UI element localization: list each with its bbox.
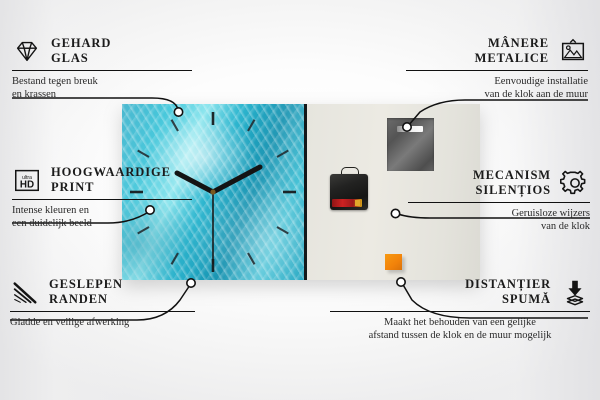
- feature-title-line2: METALICE: [475, 51, 549, 66]
- ultra-hd-icon: ultra HD: [12, 165, 42, 195]
- feature-subtitle-line1: Eenvoudige installatie: [406, 75, 588, 88]
- feature-manere-metalice: MÂNERE METALICE Eenvoudige installatie v…: [406, 36, 588, 101]
- feature-subtitle-line2: een duidelijk beeld: [12, 217, 192, 230]
- feature-subtitle-line1: Intense kleuren en: [12, 204, 192, 217]
- feature-header: ultra HD HOOGWAARDIGE PRINT: [12, 165, 192, 195]
- feature-subtitle-line2: en krassen: [12, 88, 192, 101]
- feature-subtitle-line2: afstand tussen de klok en de muur mogeli…: [330, 329, 590, 342]
- metal-hanger-plate: [387, 118, 434, 171]
- feature-subtitle-line1: Bestand tegen breuk: [12, 75, 192, 88]
- foam-spacer: [385, 254, 402, 270]
- feature-title-line1: MÂNERE: [475, 36, 549, 51]
- feature-header: DISTANȚIER SPUMĂ: [330, 277, 590, 307]
- infographic-canvas: GEHARD GLAS Bestand tegen breuk en krass…: [0, 0, 600, 400]
- feature-rule: [12, 199, 192, 200]
- feature-title-line2: PRINT: [51, 180, 171, 195]
- feature-hoogwaardige-print: ultra HD HOOGWAARDIGE PRINT Intense kleu…: [12, 165, 192, 230]
- feature-title-line2: RANDEN: [49, 292, 123, 307]
- feature-rule: [406, 70, 588, 71]
- feature-title-line2: SPUMĂ: [330, 292, 551, 307]
- feature-rule: [330, 311, 590, 312]
- feature-subtitle-line2: van de klok aan de muur: [406, 88, 588, 101]
- feature-header: GEHARD GLAS: [12, 36, 192, 66]
- feature-rule: [408, 202, 590, 203]
- feature-header: MÂNERE METALICE: [406, 36, 588, 66]
- feature-title-line1: GEHARD: [51, 36, 111, 51]
- feature-subtitle-line1: Geruisloze wijzers: [408, 207, 590, 220]
- feature-distantier-spuma: DISTANȚIER SPUMĂ Maakt het behouden van …: [330, 277, 590, 342]
- clock-center-cap: [210, 189, 215, 194]
- feature-geslepen-randen: GESLEPEN RANDEN Gladde en veilige afwerk…: [10, 277, 195, 329]
- clock-mechanism: [330, 172, 368, 212]
- mechanism-body: [330, 174, 368, 210]
- hanger-slot: [397, 126, 423, 132]
- feature-header: MECANISM SILENȚIOS: [408, 168, 590, 198]
- feature-subtitle-line2: van de klok: [408, 220, 590, 233]
- picture-frame-hanger-icon: [558, 36, 588, 66]
- feature-subtitle-line1: Gladde en veilige afwerking: [10, 316, 195, 329]
- feature-title-line2: GLAS: [51, 51, 111, 66]
- feature-title-line1: DISTANȚIER: [330, 277, 551, 292]
- feature-subtitle-line1: Maakt het behouden van een gelijke: [330, 316, 590, 329]
- diamond-icon: [12, 36, 42, 66]
- feature-rule: [12, 70, 192, 71]
- battery: [332, 199, 362, 207]
- beveled-edge-icon: [10, 277, 40, 307]
- gear-icon: [560, 168, 590, 198]
- ultra-hd-icon-large-text: HD: [20, 180, 34, 191]
- clock-minute-hand: [213, 167, 260, 192]
- feature-title-line2: SILENȚIOS: [473, 183, 551, 198]
- foam-spacer-arrow-icon: [560, 277, 590, 307]
- feature-header: GESLEPEN RANDEN: [10, 277, 195, 307]
- feature-rule: [10, 311, 195, 312]
- feature-title-line1: GESLEPEN: [49, 277, 123, 292]
- feature-mecanism-silentios: MECANISM SILENȚIOS Geruisloze wijzers va…: [408, 168, 590, 233]
- feature-gehard-glas: GEHARD GLAS Bestand tegen breuk en krass…: [12, 36, 192, 101]
- feature-title-line1: HOOGWAARDIGE: [51, 165, 171, 180]
- feature-title-line1: MECANISM: [473, 168, 551, 183]
